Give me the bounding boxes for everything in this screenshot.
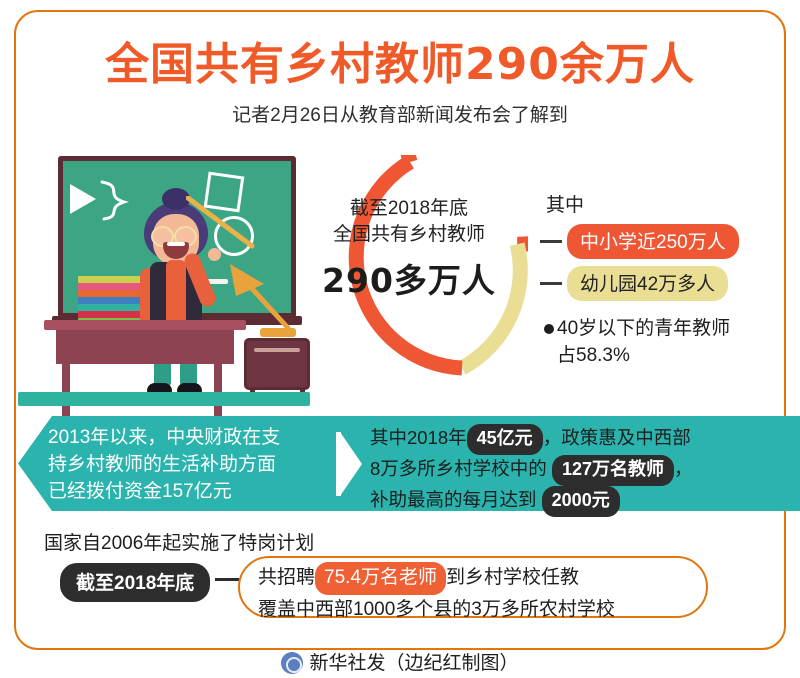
bottom-date-pill: 截至2018年底 (60, 563, 210, 602)
squiggle-shape-icon (98, 178, 132, 222)
footer-text: 新华社发（边纪红制图） (309, 653, 518, 674)
floor-strip (18, 392, 310, 406)
arrow-right-icon (340, 432, 362, 496)
bottom-box-pill: 75.4万名老师 (315, 562, 446, 595)
ribbon-left-line2: 持乡村教师的生活补助方面 (48, 451, 338, 478)
ribbon-left-line3: 已经拨付资金157亿元 (48, 478, 338, 505)
legend-note: 40岁以下的青年教师 占58.3% (544, 315, 790, 369)
rr-text-1a: 其中2018年 (370, 427, 467, 448)
teacher-illustration (48, 152, 310, 404)
rr-text-1b: ，政策惠及中西部 (543, 427, 691, 448)
ribbon-right-line3: 补助最高的每月达到 2000元 (370, 486, 770, 517)
legend-label-primary: 中小学近250万人 (567, 224, 739, 259)
rr-text-2b: ， (674, 458, 693, 479)
ribbon-pill-monthly: 2000元 (542, 486, 620, 517)
ribbon-pill-amount: 45亿元 (467, 424, 543, 455)
bb-1a: 共招聘 (258, 567, 315, 588)
donut-line-2: 全国共有乡村教师 (300, 222, 518, 248)
ribbon-left-line1: 2013年以来，中央财政在支 (48, 424, 338, 451)
xinhua-logo-icon (281, 652, 303, 674)
pointer-stick-icon (186, 196, 266, 254)
bottom-box-text: 共招聘75.4万名老师到乡村学校任教 覆盖中西部1000多个县的3万多所农村学校 (258, 562, 698, 624)
legend-note-line2: 占58.3% (557, 345, 630, 366)
leader-line-icon (540, 282, 562, 285)
legend: 其中 中小学近250万人 幼儿园42万多人 40岁以下的青年教师 占58.3% (540, 190, 790, 369)
rr-text-2a: 8万多所乡村学校中的 (370, 458, 547, 479)
legend-item-secondary[interactable]: 幼儿园42万多人 (540, 266, 790, 301)
legend-note-line1: 40岁以下的青年教师 (557, 318, 730, 339)
ribbon-left-text: 2013年以来，中央财政在支 持乡村教师的生活补助方面 已经拨付资金157亿元 (48, 424, 338, 505)
ribbon-right-line2: 8万多所乡村学校中的 127万名教师， (370, 455, 770, 486)
bottom-heading: 国家自2006年起实施了特岗计划 (44, 528, 314, 555)
rr-text-3a: 补助最高的每月达到 (370, 489, 537, 510)
legend-label-secondary: 幼儿园42万多人 (567, 266, 728, 301)
ribbon-right-text: 其中2018年45亿元，政策惠及中西部 8万多所乡村学校中的 127万名教师， … (370, 424, 770, 517)
page-subtitle: 记者2月26日从教育部新闻发布会了解到 (0, 100, 800, 127)
ribbon-pill-teachers: 127万名教师 (552, 455, 674, 486)
desk-lamp-icon (224, 262, 294, 332)
leader-line-icon (540, 240, 562, 243)
bottom-box-line2: 覆盖中西部1000多个县的3万多所农村学校 (258, 595, 698, 624)
infographic-root: 全国共有乡村教师290余万人 记者2月26日从教育部新闻发布会了解到 (0, 0, 800, 678)
legend-item-primary[interactable]: 中小学近250万人 (540, 224, 790, 259)
bottom-connector (215, 578, 239, 581)
donut-line-1: 截至2018年底 (300, 196, 518, 222)
footer: 新华社发（边纪红制图） (0, 648, 800, 675)
legend-title: 其中 (546, 190, 790, 217)
bottom-box-line1: 共招聘75.4万名老师到乡村学校任教 (258, 562, 698, 595)
ribbon-right-line1: 其中2018年45亿元，政策惠及中西部 (370, 424, 770, 455)
triangle-shape-icon (70, 184, 96, 214)
desk-top (44, 320, 246, 330)
desk-leg-right (214, 362, 222, 418)
bb-1b: 到乡村学校任教 (446, 567, 579, 588)
page-title: 全国共有乡村教师290余万人 (0, 28, 800, 92)
donut-center-text: 截至2018年底 全国共有乡村教师 290多万人 (300, 196, 518, 302)
bullet-icon (544, 324, 554, 334)
desk-front (56, 330, 234, 364)
donut-big-value: 290多万人 (300, 254, 518, 302)
desk-leg-left (62, 362, 70, 418)
